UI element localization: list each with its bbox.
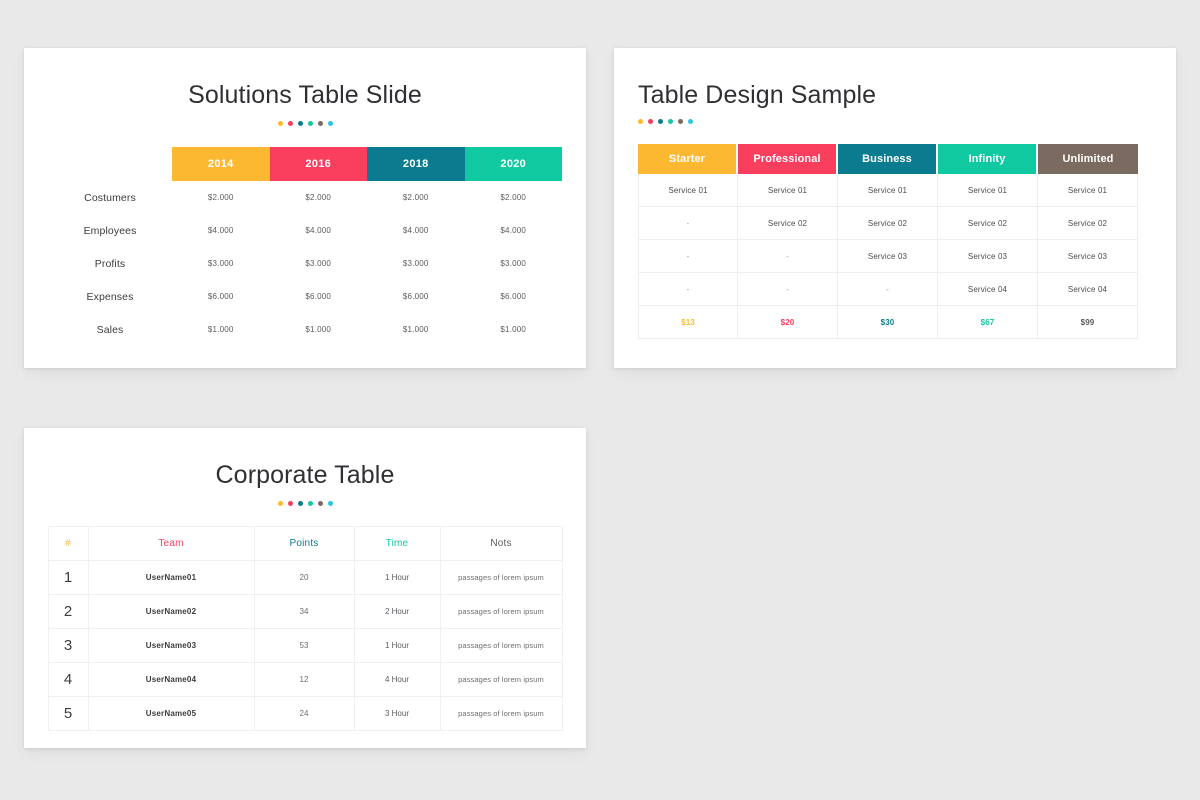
- service-cell: -: [638, 273, 738, 306]
- cell-value: $3.000: [465, 247, 563, 280]
- time: 1 Hour: [354, 629, 440, 663]
- plan-header-unlimited[interactable]: Unlimited: [1038, 144, 1138, 174]
- dot-5: [678, 119, 683, 124]
- note: passages of lorem ipsum: [440, 697, 562, 731]
- column-header-index[interactable]: #: [48, 527, 88, 561]
- service-cell: Service 03: [1038, 240, 1138, 273]
- slide-header: Corporate Table: [24, 428, 586, 506]
- cell-value: $6.000: [172, 280, 270, 313]
- dot-2: [288, 501, 293, 506]
- cell-value: $6.000: [465, 280, 563, 313]
- cell-value: $3.000: [367, 247, 465, 280]
- cell-value: $4.000: [270, 214, 368, 247]
- dot-1: [278, 501, 283, 506]
- row-label: Costumers: [48, 181, 172, 214]
- slides-canvas: Solutions Table Slide 2014 2016 2018: [0, 0, 1200, 800]
- table-row: Expenses $6.000 $6.000 $6.000 $6.000: [48, 280, 562, 313]
- slide-header: Solutions Table Slide: [24, 48, 586, 126]
- time: 1 Hour: [354, 561, 440, 595]
- dot-1: [638, 119, 643, 124]
- column-header-1[interactable]: 2016: [270, 147, 368, 181]
- dot-4: [668, 119, 673, 124]
- table-row: Employees $4.000 $4.000 $4.000 $4.000: [48, 214, 562, 247]
- corporate-table: # Team Points Time Nots 1 UserName01 20 …: [48, 526, 563, 731]
- service-cell: Service 02: [938, 207, 1038, 240]
- table-row: Costumers $2.000 $2.000 $2.000 $2.000: [48, 181, 562, 214]
- points: 24: [254, 697, 354, 731]
- service-cell: Service 01: [1038, 174, 1138, 207]
- price-business: $30: [838, 306, 938, 339]
- points: 34: [254, 595, 354, 629]
- dot-4: [308, 501, 313, 506]
- note: passages of lorem ipsum: [440, 629, 562, 663]
- cell-value: $1.000: [367, 313, 465, 346]
- row-label: Profits: [48, 247, 172, 280]
- dot-6: [328, 121, 333, 126]
- service-cell: Service 02: [1038, 207, 1138, 240]
- dot-5: [318, 501, 323, 506]
- table-row: - - Service 03 Service 03 Service 03: [638, 240, 1138, 273]
- service-cell: Service 04: [938, 273, 1038, 306]
- column-header-team[interactable]: Team: [88, 527, 254, 561]
- row-index: 2: [48, 595, 88, 629]
- time: 4 Hour: [354, 663, 440, 697]
- price-infinity: $67: [938, 306, 1038, 339]
- plan-header-starter[interactable]: Starter: [638, 144, 738, 174]
- table-row: - Service 02 Service 02 Service 02 Servi…: [638, 207, 1138, 240]
- service-cell: Service 02: [838, 207, 938, 240]
- solutions-table-body: Costumers $2.000 $2.000 $2.000 $2.000 Em…: [48, 181, 562, 346]
- service-cell: -: [838, 273, 938, 306]
- price-row: $13 $20 $30 $67 $99: [638, 306, 1138, 339]
- service-cell: Service 01: [638, 174, 738, 207]
- service-cell: Service 03: [838, 240, 938, 273]
- pricing-table-body: Service 01 Service 01 Service 01 Service…: [638, 174, 1138, 339]
- price-professional: $20: [738, 306, 838, 339]
- row-label: Employees: [48, 214, 172, 247]
- points: 53: [254, 629, 354, 663]
- column-header-points[interactable]: Points: [254, 527, 354, 561]
- slide-corporate-table: Corporate Table # Team Points Time: [24, 428, 586, 748]
- dot-indicator: [24, 501, 586, 506]
- dot-3: [658, 119, 663, 124]
- team-name: UserName04: [88, 663, 254, 697]
- service-cell: Service 04: [1038, 273, 1138, 306]
- team-name: UserName05: [88, 697, 254, 731]
- table-row: 3 UserName03 53 1 Hour passages of lorem…: [48, 629, 562, 663]
- table-row: 4 UserName04 12 4 Hour passages of lorem…: [48, 663, 562, 697]
- cell-value: $3.000: [270, 247, 368, 280]
- table-row: Service 01 Service 01 Service 01 Service…: [638, 174, 1138, 207]
- corporate-table-head: # Team Points Time Nots: [48, 527, 562, 561]
- pricing-table-head: Starter Professional Business Infinity U…: [638, 144, 1138, 174]
- dot-5: [318, 121, 323, 126]
- cell-value: $2.000: [367, 181, 465, 214]
- dot-6: [688, 119, 693, 124]
- points: 12: [254, 663, 354, 697]
- dot-indicator: [24, 121, 586, 126]
- cell-value: $4.000: [367, 214, 465, 247]
- plan-header-business[interactable]: Business: [838, 144, 938, 174]
- table-header-row: 2014 2016 2018 2020: [48, 147, 562, 181]
- solutions-table: 2014 2016 2018 2020 Costumers $2.000 $2.…: [48, 147, 562, 346]
- row-index: 3: [48, 629, 88, 663]
- note: passages of lorem ipsum: [440, 663, 562, 697]
- row-index: 5: [48, 697, 88, 731]
- table-row: Sales $1.000 $1.000 $1.000 $1.000: [48, 313, 562, 346]
- dot-2: [648, 119, 653, 124]
- table-row: 5 UserName05 24 3 Hour passages of lorem…: [48, 697, 562, 731]
- row-label: Sales: [48, 313, 172, 346]
- table-row: Profits $3.000 $3.000 $3.000 $3.000: [48, 247, 562, 280]
- time: 3 Hour: [354, 697, 440, 731]
- corner-cell: [48, 147, 172, 181]
- table-header-row: # Team Points Time Nots: [48, 527, 562, 561]
- dot-3: [298, 501, 303, 506]
- service-cell: Service 01: [738, 174, 838, 207]
- dot-2: [288, 121, 293, 126]
- plan-header-professional[interactable]: Professional: [738, 144, 838, 174]
- row-label: Expenses: [48, 280, 172, 313]
- team-name: UserName02: [88, 595, 254, 629]
- table-row: 1 UserName01 20 1 Hour passages of lorem…: [48, 561, 562, 595]
- team-name: UserName03: [88, 629, 254, 663]
- cell-value: $1.000: [465, 313, 563, 346]
- slide-solutions-table: Solutions Table Slide 2014 2016 2018: [24, 48, 586, 368]
- service-cell: Service 03: [938, 240, 1038, 273]
- table-row: 2 UserName02 34 2 Hour passages of lorem…: [48, 595, 562, 629]
- service-cell: Service 02: [738, 207, 838, 240]
- page-title: Corporate Table: [24, 461, 586, 490]
- service-cell: -: [638, 207, 738, 240]
- pricing-table: Starter Professional Business Infinity U…: [638, 144, 1138, 339]
- service-cell: -: [738, 240, 838, 273]
- cell-value: $4.000: [465, 214, 563, 247]
- cell-value: $4.000: [172, 214, 270, 247]
- service-cell: -: [638, 240, 738, 273]
- cell-value: $1.000: [270, 313, 368, 346]
- column-header-time[interactable]: Time: [354, 527, 440, 561]
- cell-value: $2.000: [465, 181, 563, 214]
- plan-header-infinity[interactable]: Infinity: [938, 144, 1038, 174]
- dot-1: [278, 121, 283, 126]
- corporate-table-body: 1 UserName01 20 1 Hour passages of lorem…: [48, 561, 562, 731]
- team-name: UserName01: [88, 561, 254, 595]
- note: passages of lorem ipsum: [440, 561, 562, 595]
- solutions-table-head: 2014 2016 2018 2020: [48, 147, 562, 181]
- table-row: - - - Service 04 Service 04: [638, 273, 1138, 306]
- column-header-3[interactable]: 2020: [465, 147, 563, 181]
- row-index: 4: [48, 663, 88, 697]
- column-header-nots[interactable]: Nots: [440, 527, 562, 561]
- service-cell: -: [738, 273, 838, 306]
- cell-value: $6.000: [367, 280, 465, 313]
- page-title: Table Design Sample: [638, 81, 1176, 110]
- cell-value: $2.000: [270, 181, 368, 214]
- page-title: Solutions Table Slide: [24, 81, 586, 110]
- time: 2 Hour: [354, 595, 440, 629]
- dot-3: [298, 121, 303, 126]
- service-cell: Service 01: [838, 174, 938, 207]
- row-index: 1: [48, 561, 88, 595]
- cell-value: $2.000: [172, 181, 270, 214]
- cell-value: $3.000: [172, 247, 270, 280]
- dot-indicator: [638, 119, 1176, 124]
- column-header-0[interactable]: 2014: [172, 147, 270, 181]
- dot-4: [308, 121, 313, 126]
- cell-value: $6.000: [270, 280, 368, 313]
- price-unlimited: $99: [1038, 306, 1138, 339]
- cell-value: $1.000: [172, 313, 270, 346]
- points: 20: [254, 561, 354, 595]
- note: passages of lorem ipsum: [440, 595, 562, 629]
- slide-table-design-sample: Table Design Sample Starter Professional…: [614, 48, 1176, 368]
- service-cell: Service 01: [938, 174, 1038, 207]
- price-starter: $13: [638, 306, 738, 339]
- slide-header: Table Design Sample: [614, 48, 1176, 124]
- table-header-row: Starter Professional Business Infinity U…: [638, 144, 1138, 174]
- dot-6: [328, 501, 333, 506]
- column-header-2[interactable]: 2018: [367, 147, 465, 181]
